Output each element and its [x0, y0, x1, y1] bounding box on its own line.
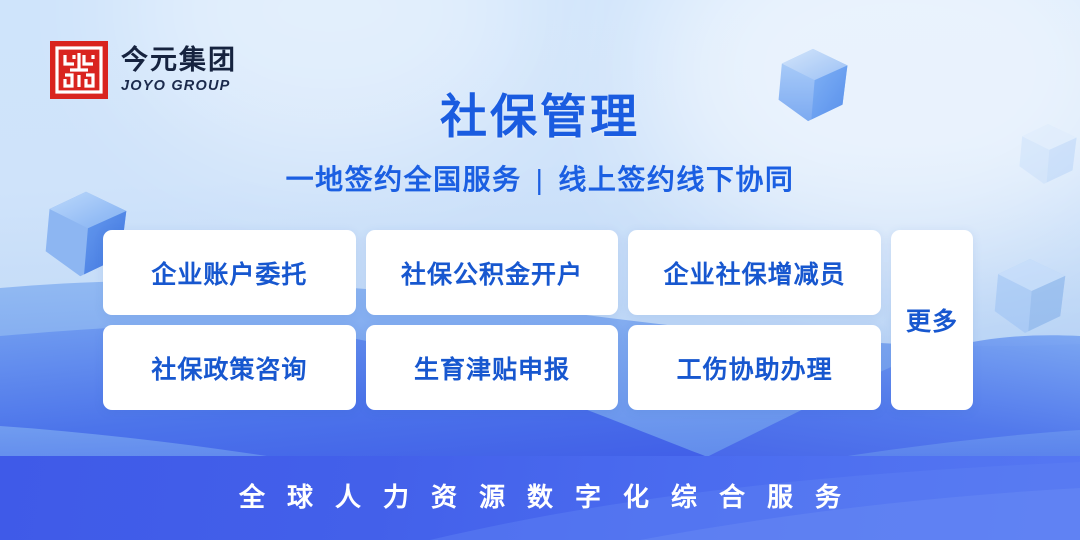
joyo-seal-logo-icon [50, 41, 108, 99]
subtitle-left: 一地签约全国服务 [286, 164, 522, 195]
service-card-label: 企业社保增减员 [664, 255, 846, 291]
service-card-label: 社保公积金开户 [401, 255, 583, 291]
service-card-policy-consulting[interactable]: 社保政策咨询 [103, 325, 356, 410]
service-card-label: 工伤协助办理 [677, 350, 833, 386]
more-services-label: 更多 [906, 302, 958, 338]
brand-logo-text: 今元集团 JOYO GROUP [121, 47, 237, 94]
more-services-button[interactable]: 更多 [891, 230, 973, 410]
service-cards-grid: 企业账户委托 社保公积金开户 企业社保增减员 社保政策咨询 生育津贴申报 工伤协… [103, 230, 881, 410]
service-card-social-insurance-fund-account[interactable]: 社保公积金开户 [366, 230, 619, 315]
footer-slogan: 全球人力资源数字化综合服务 [0, 477, 1080, 514]
service-card-label: 生育津贴申报 [414, 350, 570, 386]
brand-logo: 今元集团 JOYO GROUP [50, 41, 237, 99]
service-card-maternity-allowance-claim[interactable]: 生育津贴申报 [366, 325, 619, 410]
page-subtitle: 一地签约全国服务|线上签约线下协同 [0, 158, 1080, 198]
promo-banner: 今元集团 JOYO GROUP 社保管理 一地签约全国服务|线上签约线下协同 企… [0, 0, 1080, 540]
service-card-enterprise-insurance-adjust[interactable]: 企业社保增减员 [628, 230, 881, 315]
brand-name-cn: 今元集团 [121, 47, 237, 74]
service-card-enterprise-account-entrust[interactable]: 企业账户委托 [103, 230, 356, 315]
headline-block: 社保管理 一地签约全国服务|线上签约线下协同 [0, 92, 1080, 198]
service-card-label: 企业账户委托 [151, 255, 307, 291]
service-cards-area: 企业账户委托 社保公积金开户 企业社保增减员 社保政策咨询 生育津贴申报 工伤协… [103, 230, 973, 410]
service-card-work-injury-assistance[interactable]: 工伤协助办理 [628, 325, 881, 410]
service-card-label: 社保政策咨询 [151, 350, 307, 386]
subtitle-divider: | [522, 164, 559, 196]
subtitle-right: 线上签约线下协同 [558, 164, 794, 195]
page-title: 社保管理 [0, 92, 1080, 142]
